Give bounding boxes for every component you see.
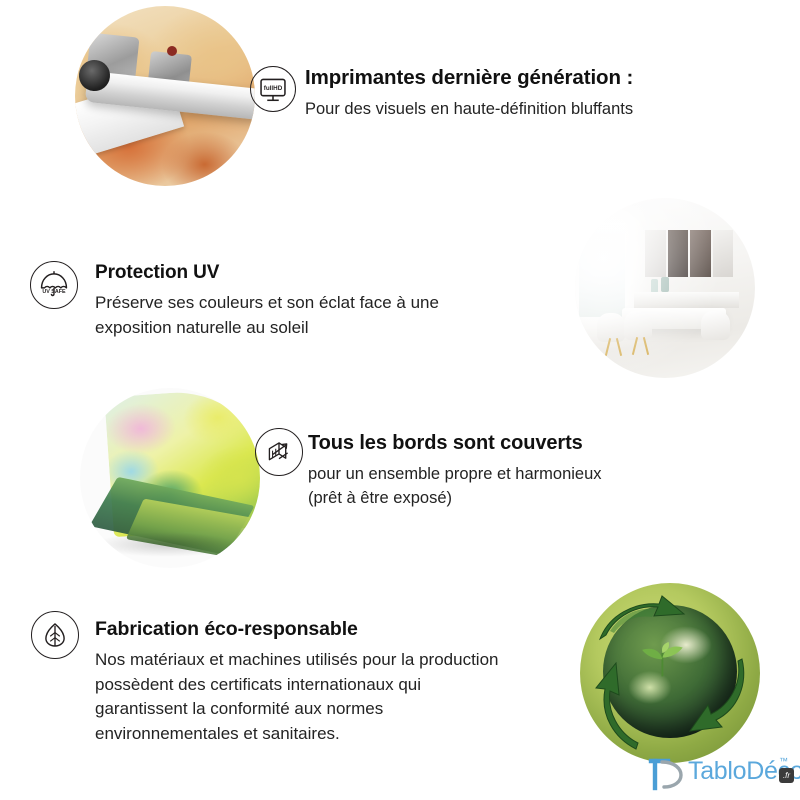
tablodeco-logo[interactable]: TabloDéco ™ .fr bbox=[648, 752, 798, 796]
feature-block-uv-protection: Protection UV Préserve ses couleurs et s… bbox=[95, 262, 439, 340]
leaf-icon bbox=[31, 611, 79, 659]
feature-heading-uv-protection: Protection UV bbox=[95, 262, 439, 284]
feature-block-printers: Imprimantes dernière génération : Pour d… bbox=[305, 66, 633, 120]
feature-line: Pour des visuels en haute-définition blu… bbox=[305, 99, 633, 120]
colorful-canvas-corner-photo bbox=[80, 388, 260, 568]
printer-head-on-map-print-photo bbox=[75, 6, 255, 186]
fullhd-label: fullHD bbox=[264, 85, 283, 92]
feature-line: environnementales et sanitaires. bbox=[95, 722, 498, 747]
feature-line: Préserve ses couleurs et son éclat face … bbox=[95, 291, 439, 316]
uv-safe-label: UV SAFE bbox=[42, 289, 66, 295]
feature-line: possèdent des certificats internationaux… bbox=[95, 673, 498, 698]
feature-heading-covered-edges: Tous les bords sont couverts bbox=[308, 432, 602, 455]
feature-description-eco-manufacturing: Nos matériaux et machines utilisés pour … bbox=[95, 648, 498, 747]
folded-canvas-edge-icon bbox=[255, 428, 303, 476]
feature-description-uv-protection: Préserve ses couleurs et son éclat face … bbox=[95, 291, 439, 340]
tablodeco-logo-mark-icon bbox=[648, 754, 688, 794]
logo-trademark: ™ bbox=[779, 756, 788, 766]
feature-block-eco-manufacturing: Fabrication éco-responsable Nos matériau… bbox=[95, 618, 498, 747]
bright-dining-room-interior-photo bbox=[575, 198, 755, 378]
feature-line: Nos matériaux et machines utilisés pour … bbox=[95, 648, 498, 673]
feature-line: (prêt à être exposé) bbox=[308, 487, 602, 511]
green-eco-globe-recycling-photo bbox=[580, 583, 760, 763]
feature-description-printers: Pour des visuels en haute-définition blu… bbox=[305, 99, 633, 120]
feature-line: pour un ensemble propre et harmonieux bbox=[308, 463, 602, 487]
fullhd-monitor-icon: fullHD bbox=[250, 66, 296, 112]
feature-block-covered-edges: Tous les bords sont couverts pour un ens… bbox=[308, 432, 602, 511]
feature-line: exposition naturelle au soleil bbox=[95, 316, 439, 341]
feature-heading-printers: Imprimantes dernière génération : bbox=[305, 66, 633, 90]
feature-line: garantissent la conformité aux normes bbox=[95, 697, 498, 722]
feature-heading-eco-manufacturing: Fabrication éco-responsable bbox=[95, 618, 498, 641]
leaf-sprout-icon bbox=[639, 642, 686, 678]
infographic-page: fullHD Imprimantes dernière génération :… bbox=[0, 0, 800, 800]
uv-safe-umbrella-icon: UV SAFE bbox=[30, 261, 78, 309]
feature-description-covered-edges: pour un ensemble propre et harmonieux (p… bbox=[308, 463, 602, 511]
logo-domain-badge: .fr bbox=[779, 768, 794, 783]
